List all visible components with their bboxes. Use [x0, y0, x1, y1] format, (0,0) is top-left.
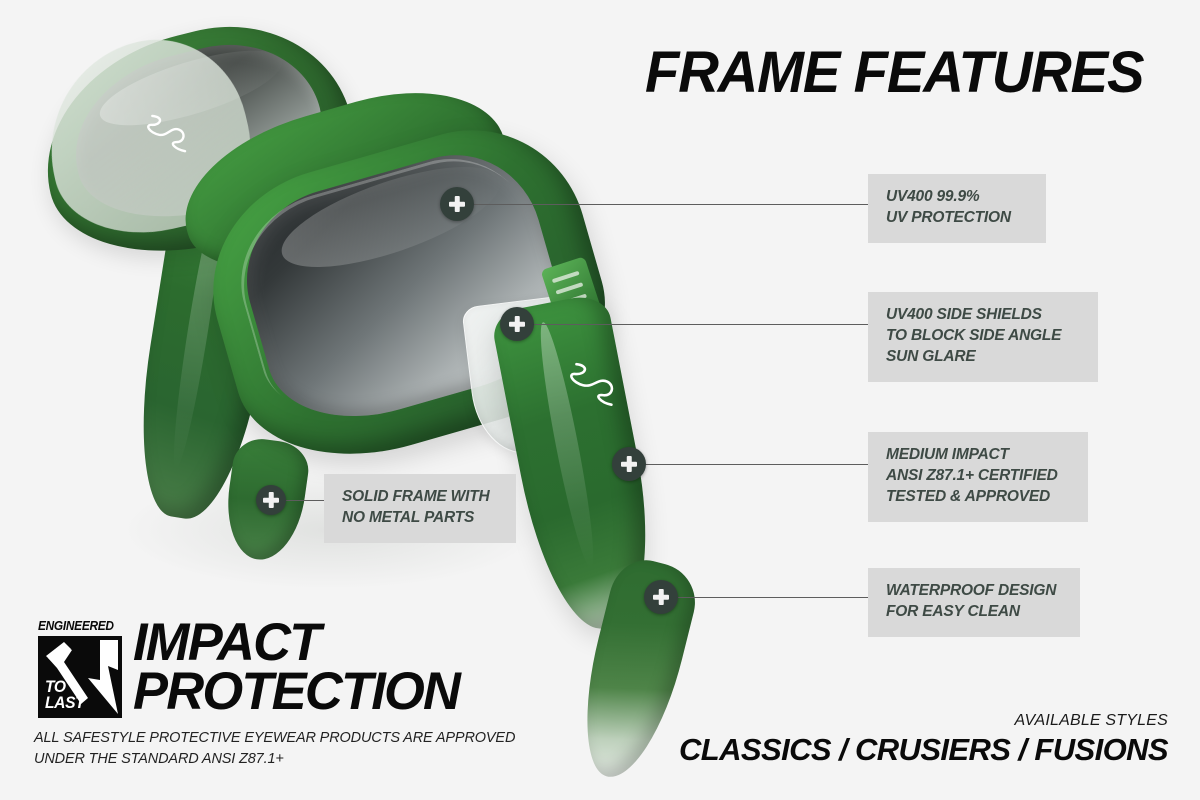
- available-styles-list: CLASSICS / CRUSIERS / FUSIONS: [679, 732, 1168, 768]
- leader-line-impact-rating: [640, 464, 870, 465]
- infographic-canvas: FRAME FEATURES UV400 99.9% UV PROTECTION…: [0, 0, 1200, 800]
- marker-impact-rating[interactable]: [612, 447, 646, 481]
- badge-top-label: ENGINEERED: [38, 620, 118, 633]
- callout-impact-rating[interactable]: MEDIUM IMPACT ANSI Z87.1+ CERTIFIED TEST…: [868, 432, 1088, 522]
- compliance-disclaimer: ALL SAFESTYLE PROTECTIVE EYEWEAR PRODUCT…: [34, 728, 515, 769]
- callout-waterproof[interactable]: WATERPROOF DESIGN FOR EASY CLEAN: [868, 568, 1080, 637]
- badge-inner-label: TO LAST: [45, 679, 84, 711]
- callout-side-shields[interactable]: UV400 SIDE SHIELDS TO BLOCK SIDE ANGLE S…: [868, 292, 1098, 382]
- impact-protection-headline: IMPACT PROTECTION: [133, 618, 459, 717]
- leader-line-side-shields: [530, 324, 870, 325]
- badge-mark: TO LAST: [38, 636, 122, 718]
- marker-solid-frame[interactable]: [256, 485, 286, 515]
- marker-waterproof[interactable]: [644, 580, 678, 614]
- page-title: FRAME FEATURES: [645, 44, 1143, 102]
- engineered-to-last-badge: ENGINEERED TO LAST: [38, 620, 122, 720]
- marker-uv-protection[interactable]: [440, 187, 474, 221]
- callout-uv-protection[interactable]: UV400 99.9% UV PROTECTION: [868, 174, 1046, 243]
- leader-line-waterproof: [672, 597, 870, 598]
- callout-solid-frame[interactable]: SOLID FRAME WITH NO METAL PARTS: [324, 474, 516, 543]
- marker-side-shields[interactable]: [500, 307, 534, 341]
- leader-line-uv-protection: [470, 204, 870, 205]
- available-styles-label: AVAILABLE STYLES: [1014, 712, 1168, 730]
- leader-line-solid-frame: [280, 500, 325, 501]
